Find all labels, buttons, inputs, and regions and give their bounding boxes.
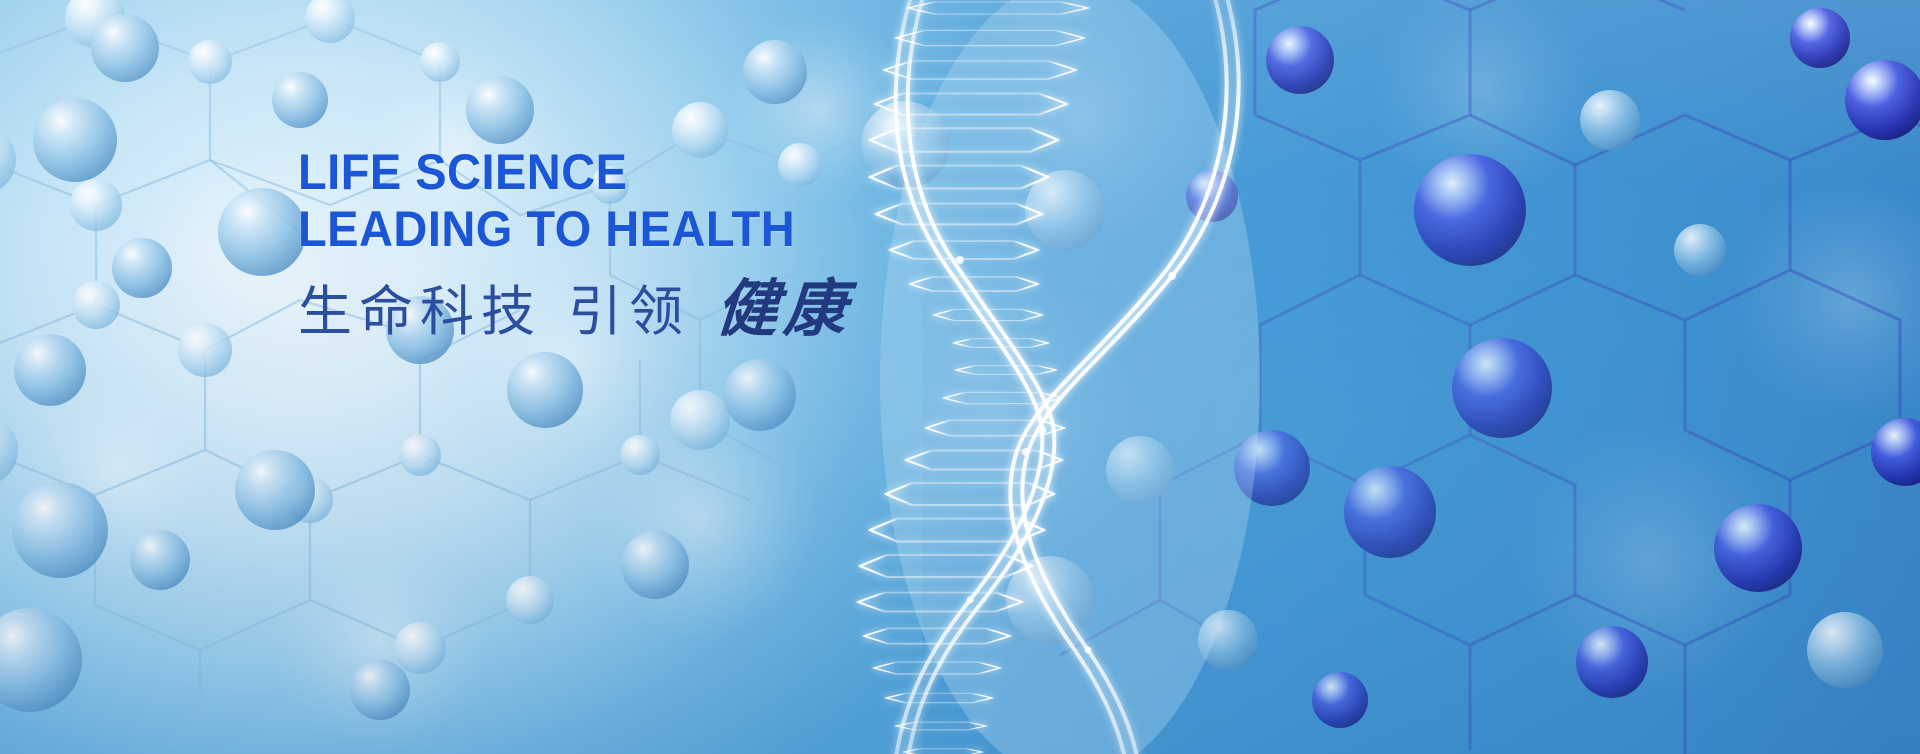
chinese-main-text: 生命科技: [298, 282, 542, 342]
headline-line-2: LEADING TO HEALTH: [298, 201, 819, 258]
background-vignette: [0, 0, 1920, 754]
chinese-calligraphy-text: 健康: [714, 278, 854, 340]
subheadline-chinese: 生命科技 引领 健康: [298, 278, 852, 342]
headline-block: LIFE SCIENCE LEADING TO HEALTH 生命科技 引领 健…: [298, 144, 852, 342]
life-science-banner: LIFE SCIENCE LEADING TO HEALTH 生命科技 引领 健…: [0, 0, 1920, 754]
chinese-verb-text: 引领: [568, 282, 690, 342]
headline-line-1: LIFE SCIENCE: [298, 144, 819, 201]
